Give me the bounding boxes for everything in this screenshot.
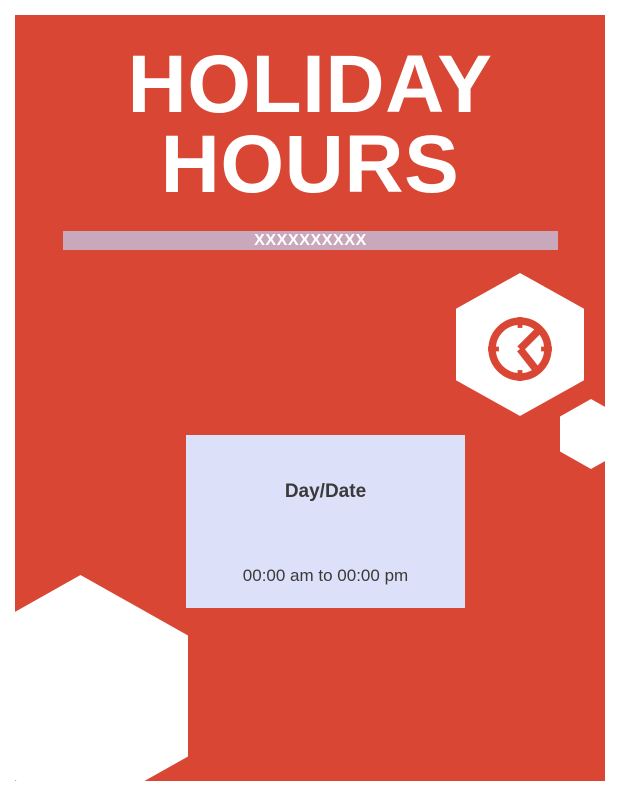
title-line-1: HOLIDAY [15, 47, 605, 123]
card-day-label: Day/Date [186, 482, 465, 501]
clock-icon [486, 315, 554, 383]
subtitle-text: XXXXXXXXXX [254, 233, 367, 249]
poster-panel: HOLIDAY HOURS XXXXXXXXXX Day/Date 00:00 … [15, 15, 605, 781]
title-line-2: HOURS [15, 127, 605, 203]
page-title: HOLIDAY HOURS [15, 47, 605, 204]
hexagon-accent-small [560, 399, 605, 469]
card-time-label: 00:00 am to 00:00 pm [186, 567, 465, 584]
hexagon-accent-large [15, 575, 188, 781]
hours-card: Day/Date 00:00 am to 00:00 pm [186, 435, 465, 608]
subtitle-bar: XXXXXXXXXX [63, 231, 558, 250]
holiday-hours-poster: HOLIDAY HOURS XXXXXXXXXX Day/Date 00:00 … [0, 0, 620, 796]
